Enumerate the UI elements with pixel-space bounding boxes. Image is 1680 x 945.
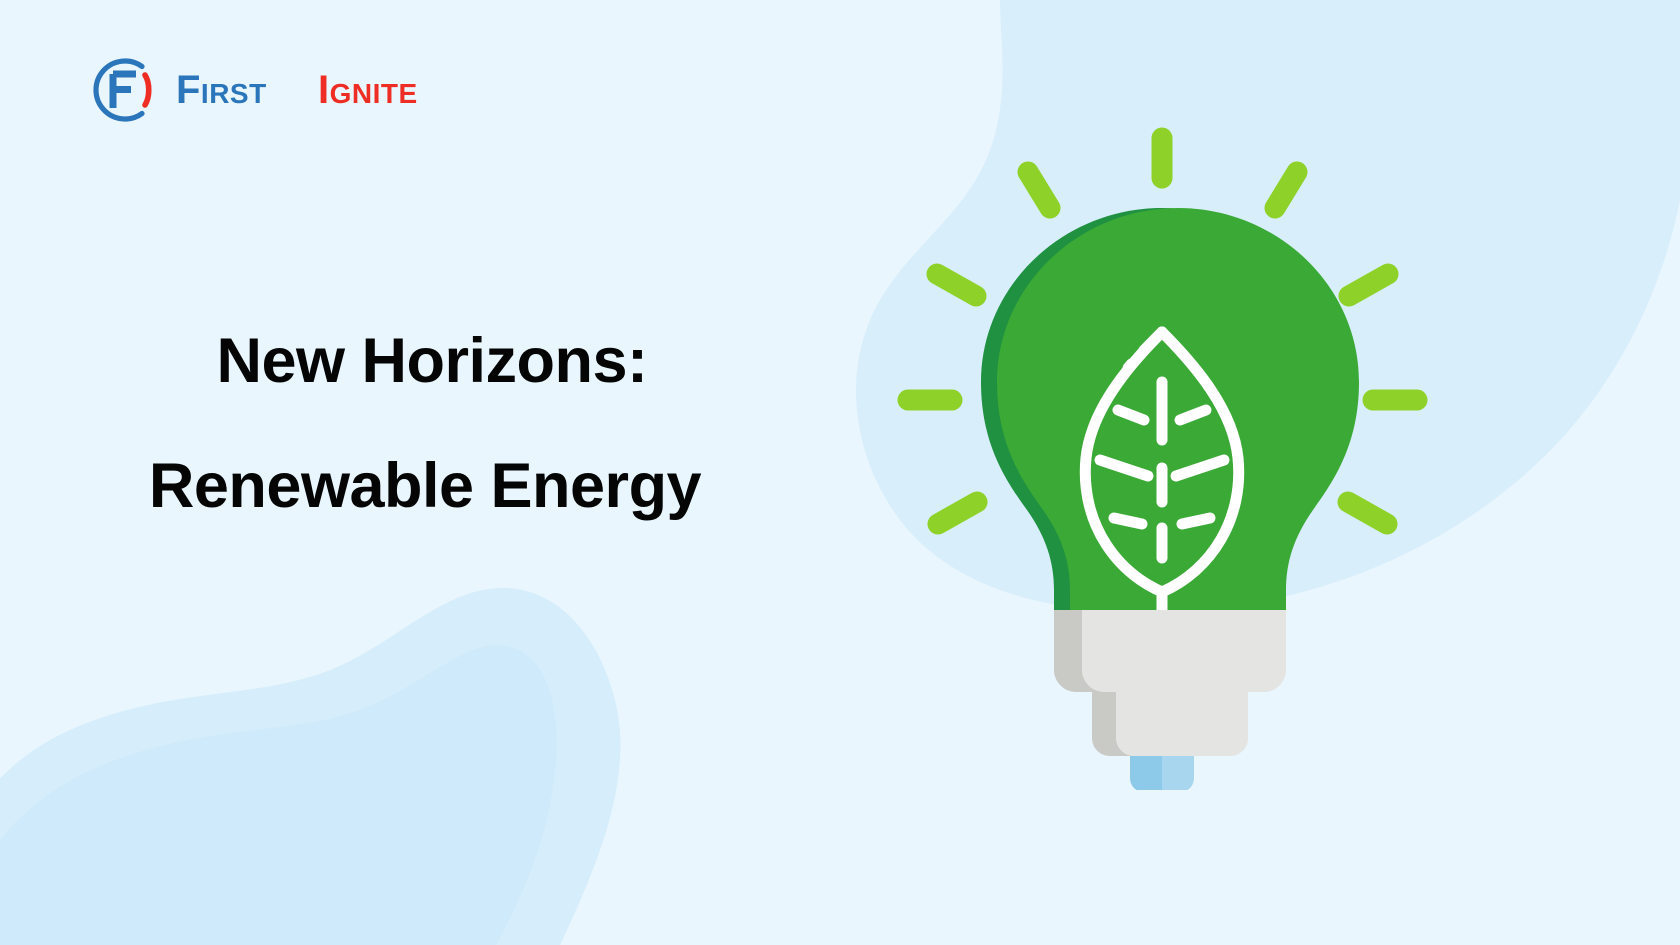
firstignite-circle-f-icon — [86, 53, 160, 127]
firstignite-wordmark: First Ignite — [176, 65, 476, 115]
logo-word-ignite: Ignite — [318, 68, 418, 112]
ray-right-upper — [1349, 274, 1388, 296]
slide-canvas: First Ignite New Horizons: Renewable Ene… — [0, 0, 1680, 945]
bulb-base-collar — [1082, 610, 1286, 692]
ray-right-lower — [1348, 502, 1387, 524]
ray-top-right — [1275, 172, 1297, 208]
ray-left-upper — [937, 274, 976, 296]
background-blob-bottom-left — [0, 588, 620, 945]
green-lightbulb-with-leaf-icon — [860, 110, 1440, 790]
ray-left-lower — [938, 502, 977, 524]
logo-word-first: First — [176, 68, 267, 112]
firstignite-logo[interactable]: First Ignite — [86, 53, 476, 127]
page-title: New Horizons: Renewable Energy — [0, 330, 860, 518]
ray-top-left — [1028, 172, 1050, 208]
bulb-base-block — [1116, 692, 1248, 756]
title-line-1: New Horizons: — [4, 330, 860, 393]
leaf-vein-right-3 — [1182, 518, 1210, 524]
title-line-2: Renewable Energy — [0, 455, 860, 518]
leaf-vein-left-3 — [1114, 518, 1142, 524]
bulb-contact-tip-highlight — [1162, 756, 1194, 790]
background-blob-bottom-left-2 — [0, 645, 557, 945]
